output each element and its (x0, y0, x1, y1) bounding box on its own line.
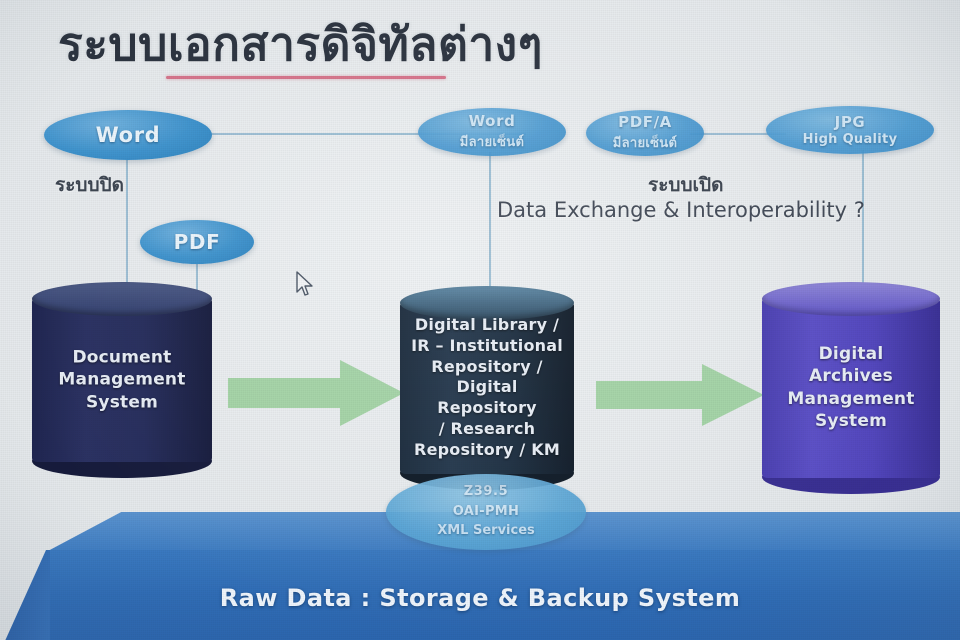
bubble-jpg-line2: High Quality (803, 132, 898, 147)
cylinder-document-management-system[interactable]: Document Management System (32, 282, 212, 478)
presentation-slide: ระบบเอกสารดิจิทัลต่างๆ Word PDF Word มีล… (0, 0, 960, 640)
arrow-right-icon (596, 362, 764, 428)
connector-word-to-dms (126, 140, 128, 295)
caption-open-system: ระบบเปิด (648, 170, 723, 200)
bubble-pdf[interactable]: PDF (140, 220, 254, 264)
slide-title: ระบบเอกสารดิจิทัลต่างๆ (58, 16, 543, 74)
cylinder-top (32, 282, 212, 316)
caption-open-system-sub: Data Exchange & Interoperability ? (497, 198, 865, 222)
bubble-word[interactable]: Word (44, 110, 212, 160)
flow-arrow-2 (596, 362, 764, 428)
bubble-word-signed[interactable]: Word มีลายเซ็นต์ (418, 108, 566, 156)
cylinder-label-dms: Document Management System (38, 346, 206, 413)
arrow-right-icon (228, 358, 404, 428)
bubble-pdf-label: PDF (174, 230, 221, 254)
cylinder-label-dams: Digital Archives Management System (768, 343, 934, 433)
bubble-word-signed-line1: Word (469, 112, 516, 130)
connector-wordsigned-to-dlir (489, 152, 491, 292)
bubble-jpg[interactable]: JPG High Quality (766, 106, 934, 154)
bubble-protocols-line2: OAI-PMH (453, 503, 519, 522)
cylinder-digital-library-repository[interactable]: Digital Library / IR – Institutional Rep… (400, 286, 574, 490)
bubble-pdfa-line2: มีลายเซ็นต์ (613, 132, 677, 153)
cylinder-label-dlir: Digital Library / IR – Institutional Rep… (406, 315, 568, 461)
title-underline (166, 76, 446, 79)
bubble-word-label: Word (96, 123, 161, 147)
bubble-protocols-line1: Z39.5 (464, 483, 509, 502)
caption-closed-system: ระบบปิด (55, 170, 124, 200)
bubble-pdfa-line1: PDF/A (618, 113, 672, 131)
bubble-word-signed-line2: มีลายเซ็นต์ (460, 131, 524, 152)
bubble-protocols-line3: XML Services (437, 522, 535, 541)
bubble-protocols[interactable]: Z39.5 OAI-PMH XML Services (386, 474, 586, 550)
cursor-arrow-icon (296, 271, 314, 297)
bubble-jpg-line1: JPG (835, 113, 866, 131)
slab-label: Raw Data : Storage & Backup System (0, 584, 960, 612)
mouse-cursor (296, 271, 314, 301)
bubble-pdfa[interactable]: PDF/A มีลายเซ็นต์ (586, 110, 704, 156)
flow-arrow-1 (228, 358, 404, 428)
cylinder-digital-archives-management-system[interactable]: Digital Archives Management System (762, 282, 940, 494)
cylinder-top (762, 282, 940, 316)
